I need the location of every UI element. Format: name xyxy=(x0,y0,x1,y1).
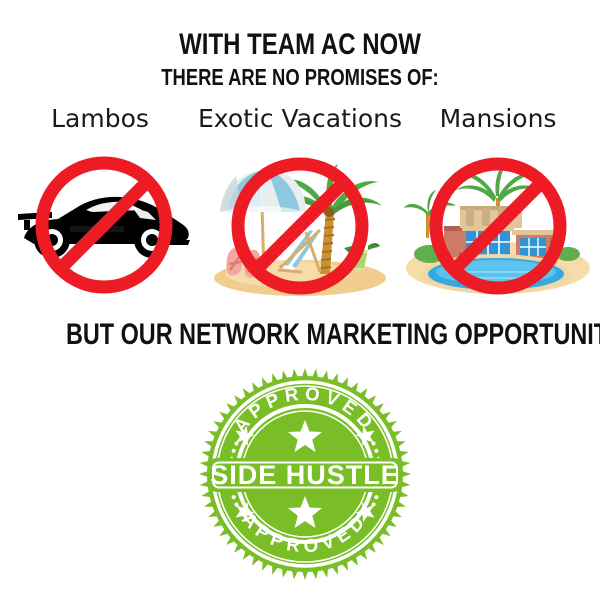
page-title: WITH TEAM AC NOW xyxy=(60,28,540,62)
illustration-lambos xyxy=(6,150,202,300)
approved-seal-icon: APPROVED APPROVED xyxy=(198,366,412,582)
bottom-heading: BUT OUR NETWORK MARKETING OPPORTUNITY IS… xyxy=(66,318,534,352)
mansion-pool-icon xyxy=(400,150,596,300)
sports-car-icon xyxy=(6,150,202,300)
illustration-exotic-vacations xyxy=(202,150,398,300)
illustration-mansions xyxy=(400,150,596,300)
seal-banner: SIDE HUSTLE xyxy=(208,458,402,492)
category-label-lambos: Lambos xyxy=(0,104,200,133)
beach-scene-icon xyxy=(202,150,398,300)
poster-canvas: WITH TEAM AC NOW THERE ARE NO PROMISES O… xyxy=(0,0,600,600)
category-label-row: Lambos Exotic Vacations Mansions xyxy=(0,104,600,144)
category-label-mansions: Mansions xyxy=(398,104,598,133)
category-label-exotic-vacations: Exotic Vacations xyxy=(198,104,398,133)
seal-banner-text: SIDE HUSTLE xyxy=(210,460,400,490)
page-subtitle: THERE ARE NO PROMISES OF: xyxy=(60,64,540,91)
